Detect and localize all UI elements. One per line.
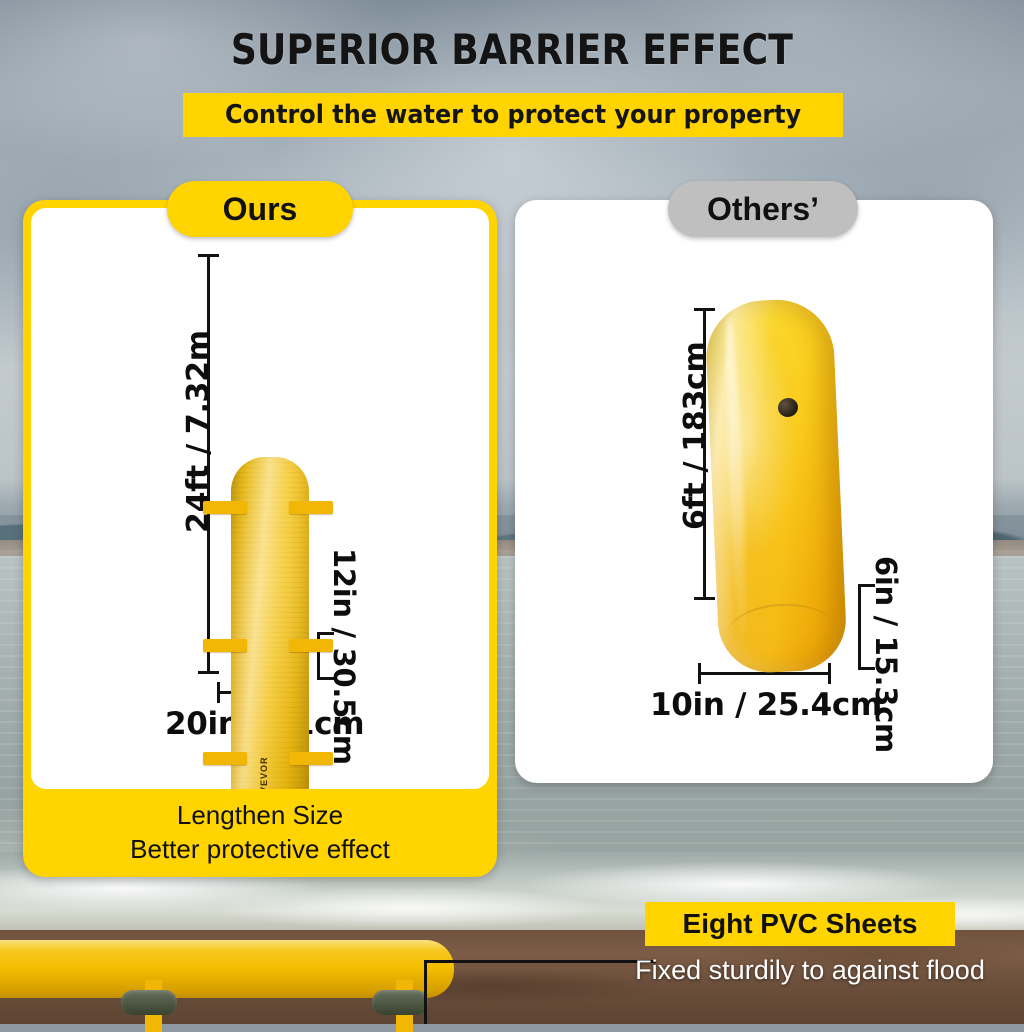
ours-footer-line-1: Lengthen Size xyxy=(177,800,343,832)
ours-strap-right-3 xyxy=(289,752,333,765)
vevor-logo: VEVOR xyxy=(259,756,269,789)
page-title: SUPERIOR BARRIER EFFECT xyxy=(72,25,953,74)
comparison-card-others: 6ft / 183cm 6in / 15.3cm 10in / 25.4cm xyxy=(515,200,993,783)
ours-footer-line-2: Better protective effect xyxy=(130,834,390,866)
callout-leader-vertical xyxy=(424,962,427,1024)
subtitle-text: Control the water to protect your proper… xyxy=(225,100,801,130)
tab-ours-label: Ours xyxy=(223,191,298,228)
ours-product-image: VEVOR xyxy=(203,457,333,789)
ours-strap-right-2 xyxy=(289,639,333,652)
tab-others-label: Others’ xyxy=(707,191,819,228)
others-width-dimension-line xyxy=(698,672,831,675)
ours-strap-left-1 xyxy=(203,501,247,514)
others-height-dimension-line xyxy=(858,584,861,670)
others-width-cap-start xyxy=(698,663,701,684)
others-tube xyxy=(704,297,848,674)
barrier-anchor-2 xyxy=(372,990,428,1015)
comparison-card-ours: VEVOR 24ft / 7.32m 12in / 30.5cm 20in / … xyxy=(23,200,497,877)
others-width-label: 10in / 25.4cm xyxy=(650,687,882,723)
tab-ours[interactable]: Ours xyxy=(167,181,353,237)
subtitle-banner: Control the water to protect your proper… xyxy=(183,93,843,137)
tab-others[interactable]: Others’ xyxy=(668,181,858,237)
barrier-anchor-1 xyxy=(121,990,177,1015)
header: SUPERIOR BARRIER EFFECT xyxy=(0,0,1024,74)
ours-length-cap-top xyxy=(198,254,219,257)
barrier-in-use-photo xyxy=(0,940,454,1000)
ours-strap-left-3 xyxy=(203,752,247,765)
ours-strap-right-1 xyxy=(289,501,333,514)
ours-footer: Lengthen Size Better protective effect xyxy=(31,789,489,877)
ours-strap-left-2 xyxy=(203,639,247,652)
ours-product-area: VEVOR 24ft / 7.32m 12in / 30.5cm 20in / … xyxy=(31,208,489,789)
pvc-sheets-badge-label: Eight PVC Sheets xyxy=(683,908,918,940)
pvc-sheets-caption: Fixed sturdily to against flood xyxy=(600,955,1020,986)
pvc-sheets-badge: Eight PVC Sheets xyxy=(645,902,955,946)
others-product-image xyxy=(706,300,846,672)
others-height-label: 6in / 15.3cm xyxy=(869,556,903,753)
